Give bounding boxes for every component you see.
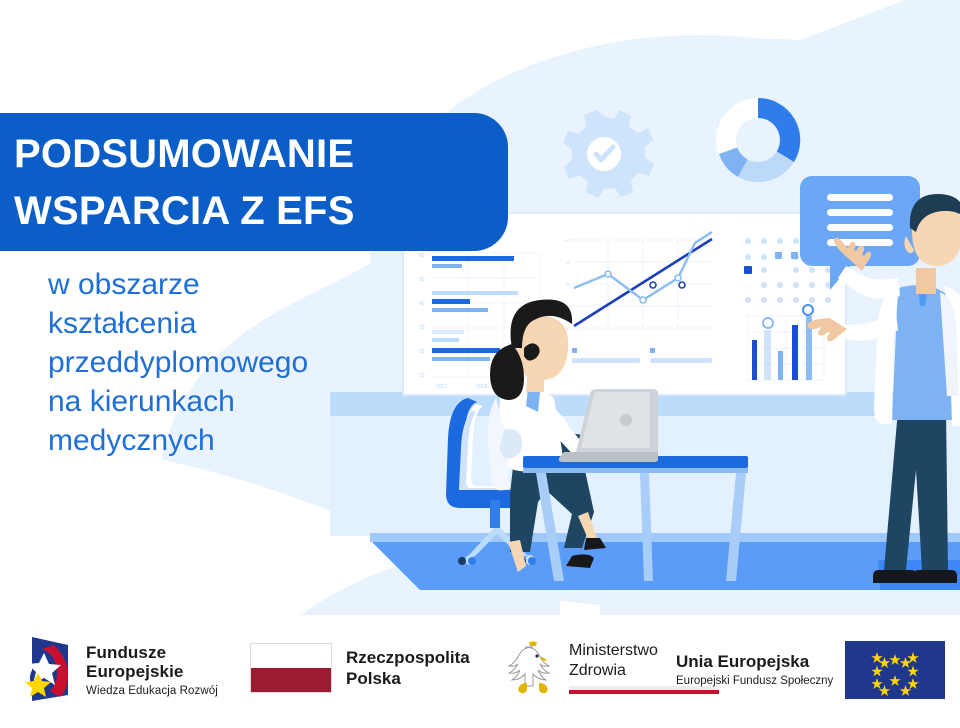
donut-chart-icon xyxy=(716,98,800,182)
fe-line-1: Fundusze xyxy=(86,643,218,662)
svg-text:10: 10 xyxy=(565,326,571,331)
rzeczpospolita-polska-logo: Rzeczpospolita Polska xyxy=(250,643,470,693)
subtitle-line-1: w obszarze xyxy=(48,265,448,304)
subtitle-block: w obszarze kształcenia przeddyplomowego … xyxy=(48,265,448,460)
fe-line-3: Wiedza Edukacja Rozwój xyxy=(86,685,218,697)
svg-text:2018: 2018 xyxy=(476,384,487,390)
unia-europejska-logo: Unia Europejska Europejski Fundusz Społe… xyxy=(676,641,945,699)
ue-line-2: Europejski Fundusz Społeczny xyxy=(676,675,833,687)
poster-canvas: 6050 4030 2010 201720182019 xyxy=(0,0,960,728)
svg-text:50: 50 xyxy=(565,238,571,243)
subtitle-line-3: przeddyplomowego xyxy=(48,343,448,382)
floor xyxy=(370,540,960,590)
headline-banner: PODSUMOWANIE WSPARCIA Z EFS xyxy=(0,113,508,251)
svg-text:60: 60 xyxy=(419,253,425,259)
headline-line-2: WSPARCIA Z EFS xyxy=(14,183,508,240)
rp-line-2: Polska xyxy=(346,668,470,689)
headline-line-1: PODSUMOWANIE xyxy=(14,126,508,183)
svg-text:30: 30 xyxy=(565,282,571,287)
poland-flag-icon xyxy=(250,643,332,693)
eu-flag-icon xyxy=(845,641,945,699)
fundusze-europejskie-mark xyxy=(24,637,76,703)
floor-edge xyxy=(370,533,960,542)
fe-line-2: Europejskie xyxy=(86,662,218,681)
rp-line-1: Rzeczpospolita xyxy=(346,647,470,668)
subtitle-line-4: na kierunkach xyxy=(48,382,448,421)
subtitle-line-2: kształcenia xyxy=(48,304,448,343)
ue-line-1: Unia Europejska xyxy=(676,653,833,672)
subtitle-line-5: medycznych xyxy=(48,421,448,460)
fundusze-europejskie-logo: Fundusze Europejskie Wiedza Edukacja Roz… xyxy=(24,637,218,703)
footer-logo-bar: Fundusze Europejskie Wiedza Edukacja Roz… xyxy=(0,615,960,728)
svg-text:40: 40 xyxy=(565,260,571,265)
polish-eagle-icon xyxy=(505,639,561,701)
